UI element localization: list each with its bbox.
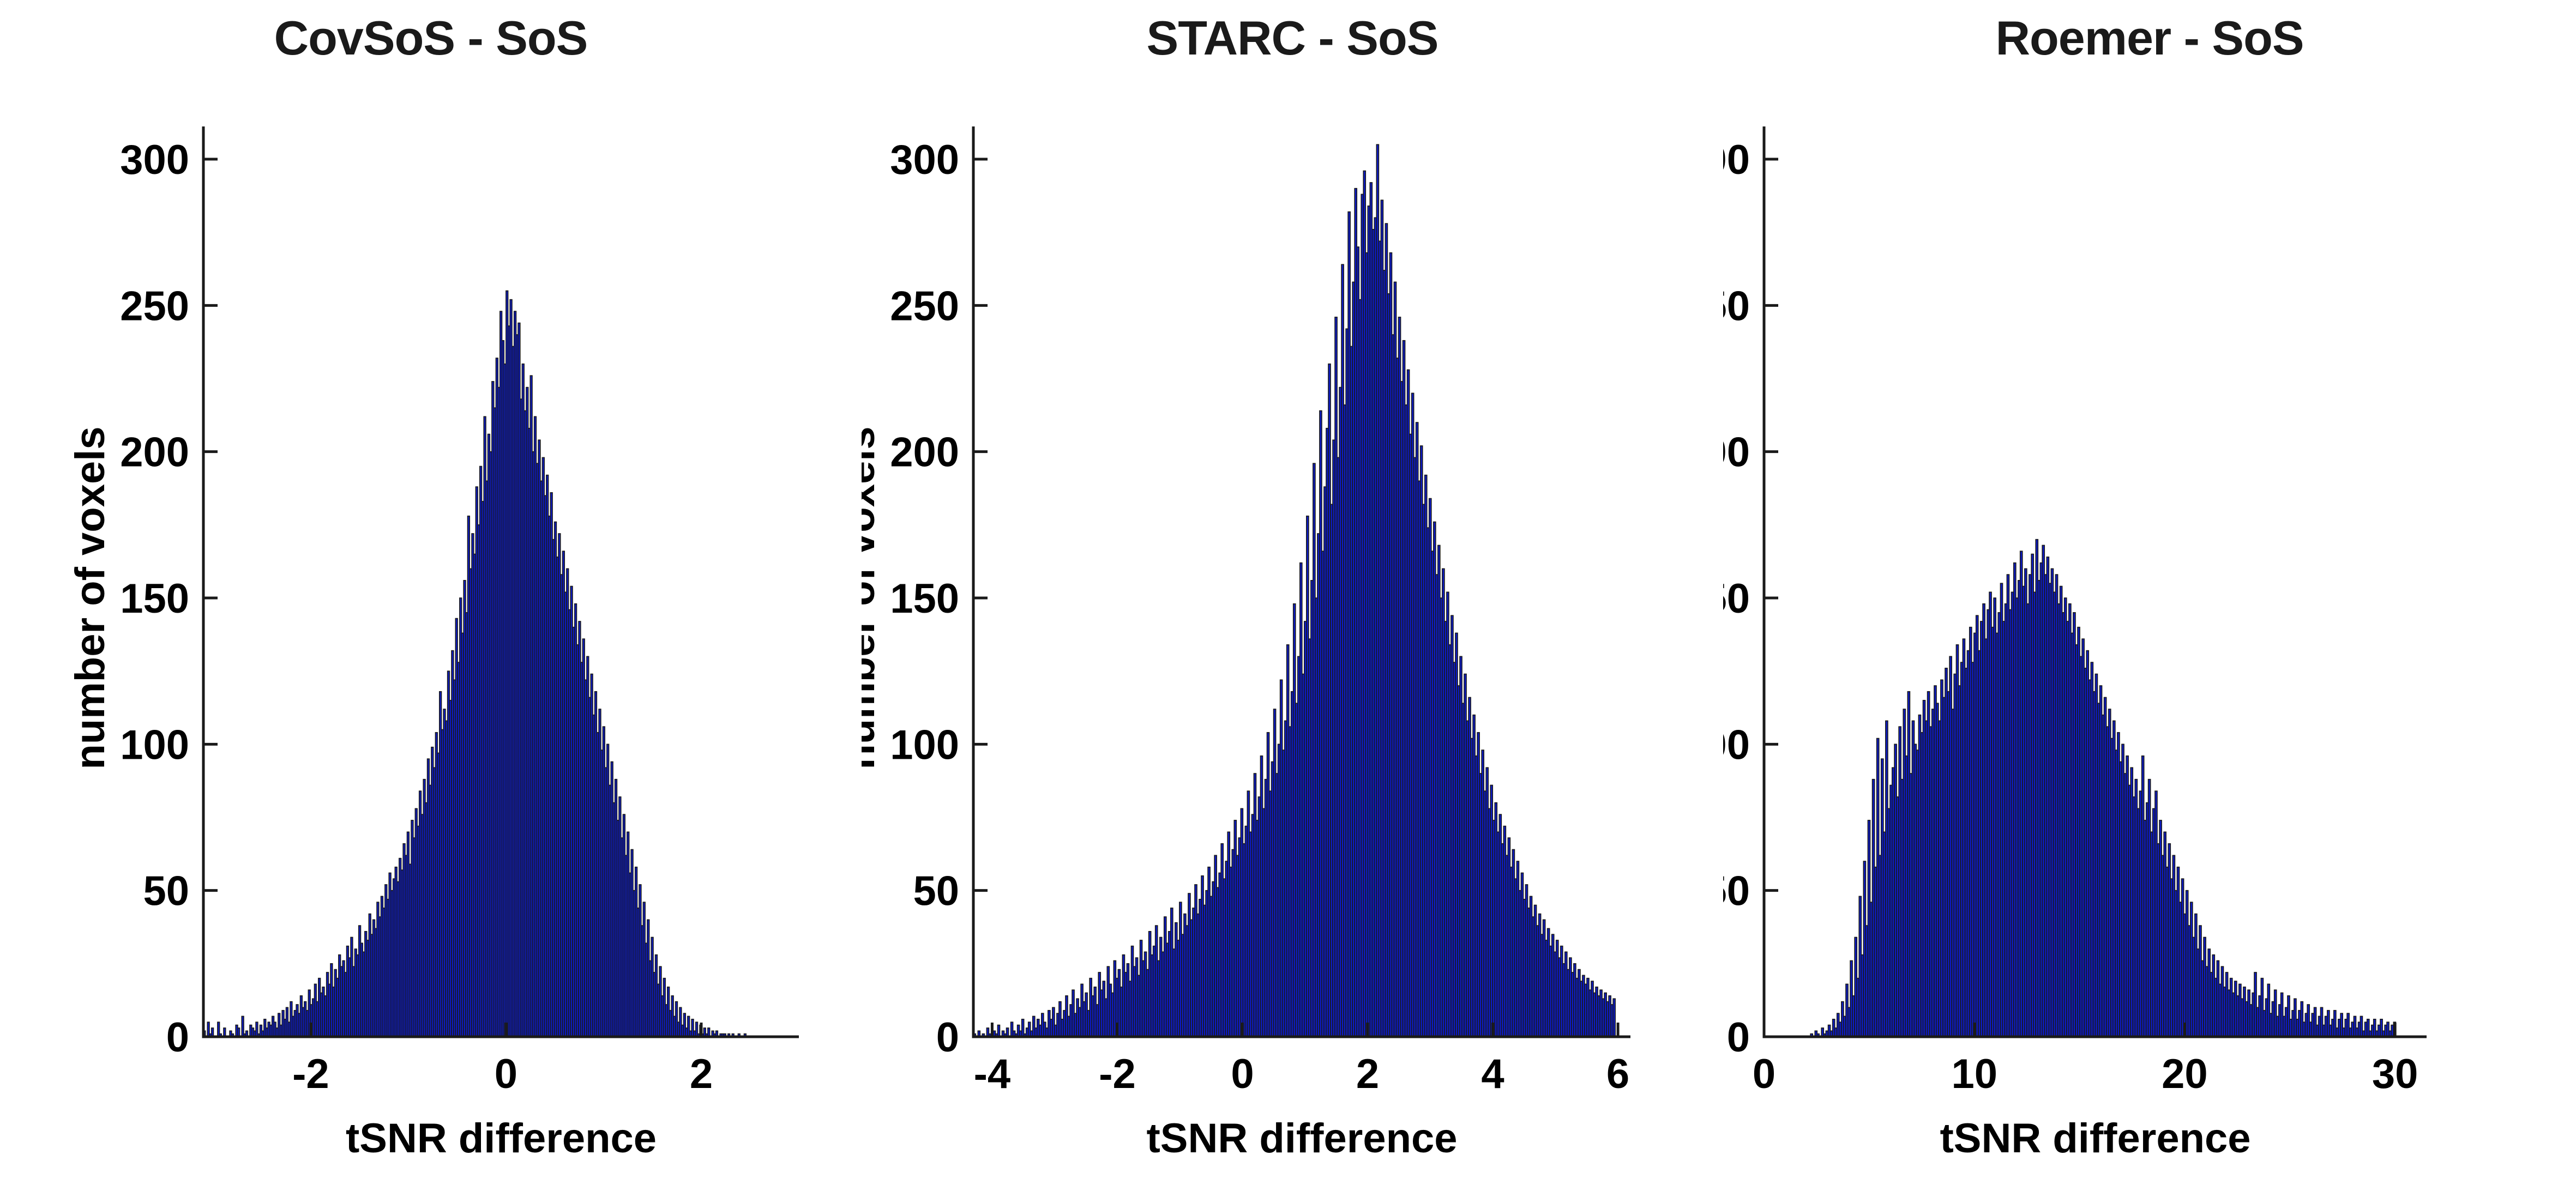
panel-covsos: CovSoS - SoS 050100150200250300-202tSNR … bbox=[0, 0, 862, 1191]
y-tick-label: 50 bbox=[143, 868, 189, 915]
y-axis-label: number of voxels bbox=[67, 426, 113, 769]
y-axis-label: number of voxels bbox=[862, 426, 883, 769]
histogram-bars bbox=[203, 291, 746, 1037]
y-tick-label: 100 bbox=[1723, 722, 1750, 768]
y-tick-label: 150 bbox=[890, 576, 959, 622]
histogram-plot: 050100150200250300-4-20246tSNR differenc… bbox=[862, 0, 1723, 1191]
y-tick-label: 250 bbox=[890, 283, 959, 329]
x-tick-label: -2 bbox=[292, 1051, 329, 1097]
x-axis-label: tSNR difference bbox=[1940, 1115, 2250, 1162]
panel-roemer: Roemer - SoS 0501001502002503000102030tS… bbox=[1723, 0, 2576, 1191]
x-tick-label: 0 bbox=[1753, 1051, 1775, 1097]
histogram-plot: 050100150200250300-202tSNR differencenum… bbox=[0, 0, 862, 1191]
x-tick-label: 30 bbox=[2372, 1051, 2418, 1097]
y-tick-label: 300 bbox=[1723, 137, 1750, 183]
x-tick-label: 2 bbox=[1356, 1051, 1379, 1097]
y-tick-label: 200 bbox=[120, 430, 189, 476]
y-tick-label: 250 bbox=[1723, 283, 1750, 329]
y-tick-label: 100 bbox=[120, 722, 189, 768]
y-tick-label: 200 bbox=[1723, 430, 1750, 476]
x-tick-label: 10 bbox=[1951, 1051, 1997, 1097]
x-tick-label: -2 bbox=[1099, 1051, 1136, 1097]
x-tick-label: 20 bbox=[2162, 1051, 2208, 1097]
x-tick-label: 6 bbox=[1606, 1051, 1629, 1097]
histogram-bars bbox=[973, 144, 1615, 1037]
y-tick-label: 200 bbox=[890, 430, 959, 476]
panel-starc: STARC - SoS 050100150200250300-4-20246tS… bbox=[862, 0, 1723, 1191]
histogram-bars bbox=[1810, 540, 2396, 1037]
histogram-plot: 0501001502002503000102030tSNR difference… bbox=[1723, 0, 2576, 1191]
y-tick-label: 100 bbox=[890, 722, 959, 768]
x-tick-label: 2 bbox=[690, 1051, 713, 1097]
x-tick-label: 0 bbox=[1231, 1051, 1254, 1097]
y-tick-label: 300 bbox=[120, 137, 189, 183]
y-tick-label: 150 bbox=[1723, 576, 1750, 622]
x-axis-label: tSNR difference bbox=[346, 1115, 657, 1162]
figure-root: CovSoS - SoS 050100150200250300-202tSNR … bbox=[0, 0, 2576, 1191]
y-tick-label: 50 bbox=[1723, 868, 1750, 915]
y-tick-label: 0 bbox=[1727, 1014, 1750, 1061]
x-axis-label: tSNR difference bbox=[1146, 1115, 1457, 1162]
x-tick-label: -4 bbox=[974, 1051, 1011, 1097]
y-tick-label: 250 bbox=[120, 283, 189, 329]
y-tick-label: 0 bbox=[166, 1014, 189, 1061]
y-tick-label: 150 bbox=[120, 576, 189, 622]
y-tick-label: 300 bbox=[890, 137, 959, 183]
y-tick-label: 50 bbox=[913, 868, 959, 915]
x-tick-label: 4 bbox=[1481, 1051, 1504, 1097]
y-tick-label: 0 bbox=[936, 1014, 959, 1061]
x-tick-label: 0 bbox=[495, 1051, 517, 1097]
